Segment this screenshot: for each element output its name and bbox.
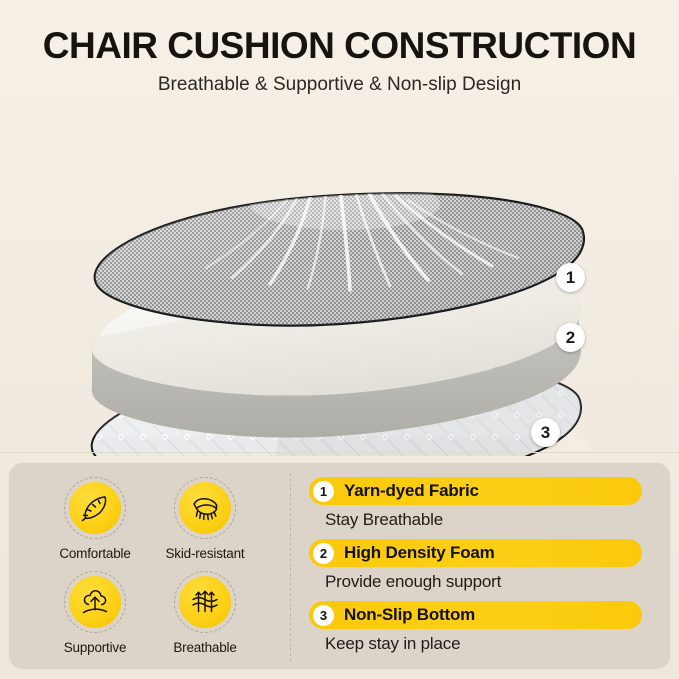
layer-badge-1: 1 bbox=[556, 263, 585, 292]
feature-title: Non-Slip Bottom bbox=[344, 605, 475, 625]
icon-disc bbox=[69, 482, 121, 534]
panel-vertical-divider bbox=[290, 473, 291, 661]
page-subtitle: Breathable & Supportive & Non-slip Desig… bbox=[0, 68, 679, 97]
feature-subtitle: Stay Breathable bbox=[325, 510, 649, 530]
header: CHAIR CUSHION CONSTRUCTION Breathable & … bbox=[0, 0, 679, 97]
feature-title: High Density Foam bbox=[344, 543, 495, 563]
feature-number: 3 bbox=[313, 605, 334, 626]
icon-disc bbox=[179, 576, 231, 628]
layer-badge-3: 3 bbox=[531, 418, 560, 447]
feature-number: 1 bbox=[313, 481, 334, 502]
cushion-up-arrow-icon bbox=[78, 585, 112, 619]
feature-icon-breathable[interactable]: Breathable bbox=[145, 571, 265, 655]
feature-list-item[interactable]: 1 Yarn-dyed Fabric Stay Breathable bbox=[309, 477, 649, 530]
feature-panel: Comfortable bbox=[8, 462, 671, 670]
feature-pill[interactable]: 2 High Density Foam bbox=[309, 539, 642, 567]
icon-label: Comfortable bbox=[35, 546, 155, 561]
icon-ring bbox=[174, 477, 236, 539]
icon-ring bbox=[64, 571, 126, 633]
layer-badge-2: 2 bbox=[556, 323, 585, 352]
infographic-page: CHAIR CUSHION CONSTRUCTION Breathable & … bbox=[0, 0, 679, 679]
section-divider bbox=[0, 452, 679, 453]
icon-disc bbox=[69, 576, 121, 628]
icon-ring bbox=[64, 477, 126, 539]
icon-label: Supportive bbox=[35, 640, 155, 655]
feature-title: Yarn-dyed Fabric bbox=[344, 481, 479, 501]
feature-icon-comfortable[interactable]: Comfortable bbox=[35, 477, 155, 561]
feature-list: 1 Yarn-dyed Fabric Stay Breathable 2 Hig… bbox=[309, 473, 659, 663]
feature-list-item[interactable]: 2 High Density Foam Provide enough suppo… bbox=[309, 539, 649, 592]
feature-icon-skid-resistant[interactable]: Skid-resistant bbox=[145, 477, 265, 561]
feature-number: 2 bbox=[313, 543, 334, 564]
grip-bristle-icon bbox=[188, 491, 222, 525]
icon-label: Skid-resistant bbox=[145, 546, 265, 561]
icon-grid: Comfortable bbox=[27, 471, 285, 663]
feature-pill[interactable]: 1 Yarn-dyed Fabric bbox=[309, 477, 642, 505]
page-title: CHAIR CUSHION CONSTRUCTION bbox=[0, 0, 679, 68]
feature-icon-supportive[interactable]: Supportive bbox=[35, 571, 155, 655]
icon-disc bbox=[179, 482, 231, 534]
feature-subtitle: Provide enough support bbox=[325, 572, 649, 592]
icon-ring bbox=[174, 571, 236, 633]
feature-list-item[interactable]: 3 Non-Slip Bottom Keep stay in place bbox=[309, 601, 649, 654]
feature-subtitle: Keep stay in place bbox=[325, 634, 649, 654]
airflow-arrows-icon bbox=[188, 585, 222, 619]
icon-label: Breathable bbox=[145, 640, 265, 655]
feather-icon bbox=[78, 491, 112, 525]
feature-pill[interactable]: 3 Non-Slip Bottom bbox=[309, 601, 642, 629]
cushion-exploded-diagram: 1 2 3 bbox=[0, 96, 679, 456]
